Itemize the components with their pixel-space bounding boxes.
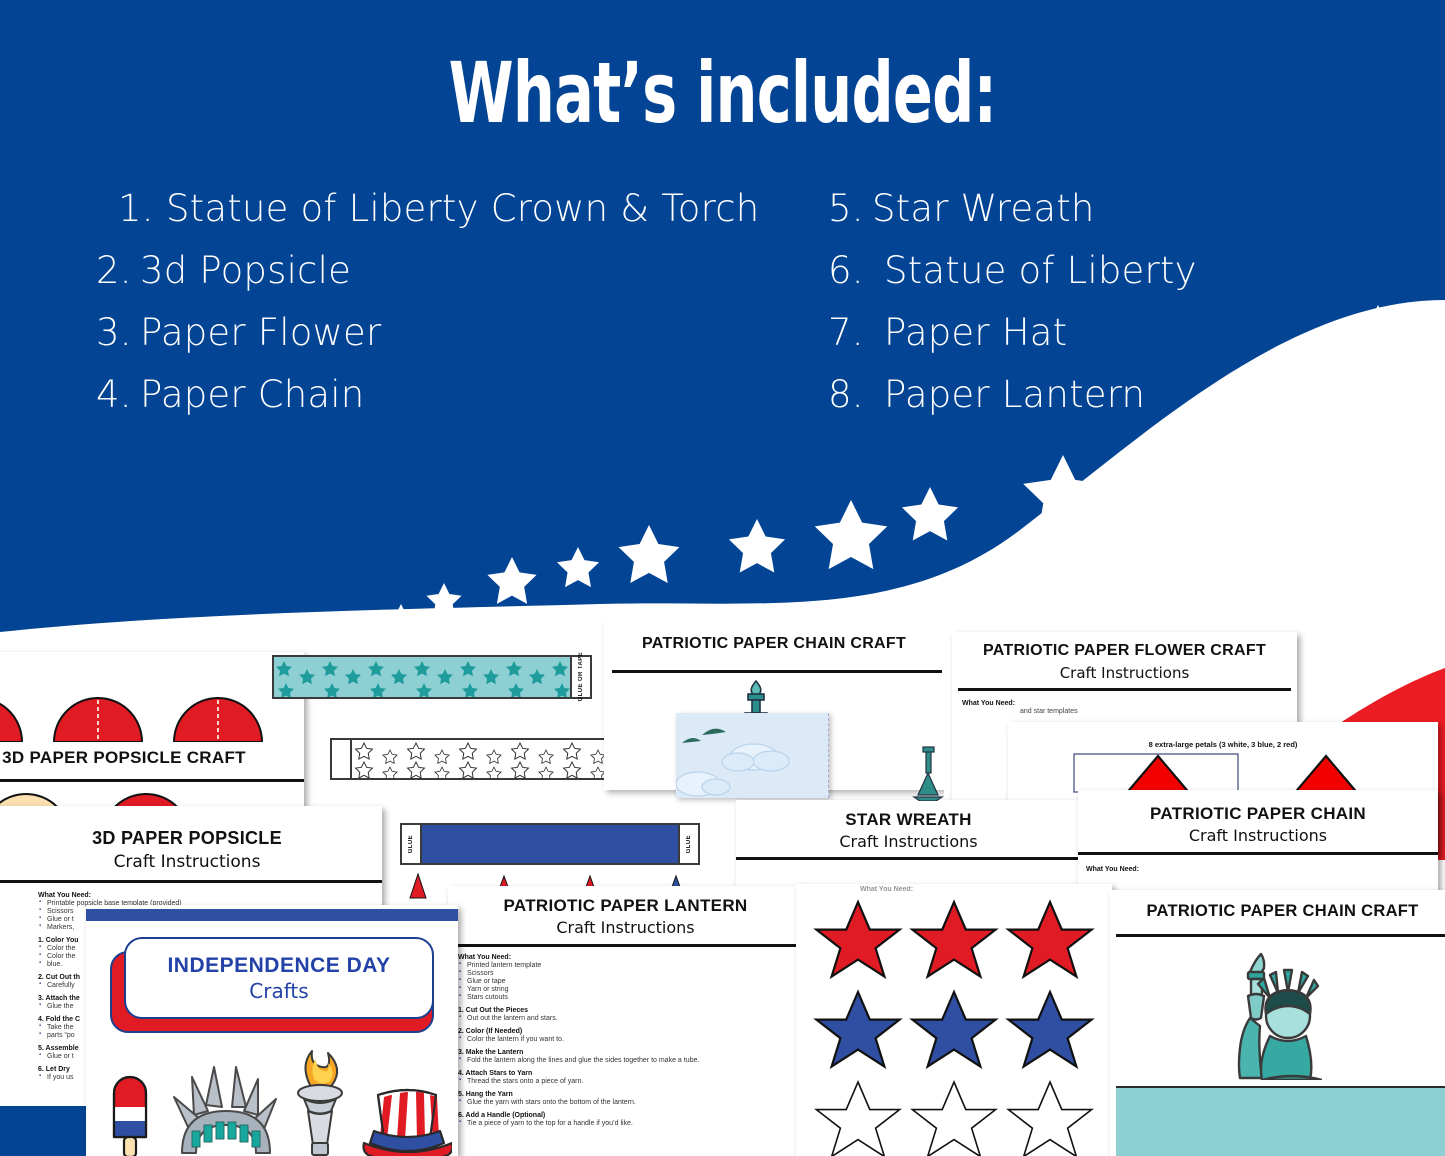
- liberty-crown-icon: [174, 1067, 276, 1153]
- list-item-label: Statue of Liberty: [884, 252, 1197, 289]
- paper-chain-teal-block: [1116, 1086, 1445, 1156]
- star-row-blue: [816, 992, 1091, 1067]
- doc-title: PATRIOTIC PAPER CHAIN CRAFT: [1110, 902, 1445, 921]
- list-item-label: 3d Popsicle: [140, 252, 351, 289]
- included-list-left: 1. Statue of Liberty Crown & Torch 2. 3d…: [96, 190, 796, 438]
- patriotic-hat-icon: [364, 1090, 453, 1156]
- doc-subtitle: Craft Instructions: [0, 852, 382, 872]
- step-bullet: Glue the yarn with stars onto the bottom…: [458, 1099, 798, 1106]
- step-bullet: Thread the stars onto a piece of yarn.: [458, 1078, 798, 1085]
- list-item-label: Paper Lantern: [884, 376, 1145, 413]
- doc-paper-chain-instructions[interactable]: PATRIOTIC PAPER CHAIN Craft Instructions…: [1078, 790, 1438, 905]
- poster-canvas: What’s included: 1. Statue of Liberty Cr…: [0, 0, 1445, 1156]
- doc-title: 3D PAPER POPSICLE: [0, 828, 382, 849]
- list-item-number: 5.: [828, 190, 872, 227]
- list-item-number: 8.: [828, 376, 884, 413]
- list-item-number: 2.: [96, 252, 140, 289]
- doc-cover-independence-day[interactable]: INDEPENDENCE DAY Crafts: [86, 905, 458, 1156]
- list-item: 1. Statue of Liberty Crown & Torch: [96, 190, 796, 227]
- torch-icon: [298, 1051, 342, 1155]
- doc-paper-chain-craft-bottom[interactable]: PATRIOTIC PAPER CHAIN CRAFT: [1110, 890, 1445, 1156]
- divider: [958, 688, 1291, 691]
- petal-caption: 8 extra-large petals (3 white, 3 blue, 2…: [1008, 740, 1438, 749]
- list-item: 8. Paper Lantern: [828, 376, 1328, 413]
- strip-glue-tab-right-label: GLUE: [686, 835, 692, 853]
- strip-glue-tab-left-label: GLUE: [408, 835, 414, 853]
- clouds-birds-graphic: [676, 713, 828, 798]
- statue-of-liberty-small-icon: [912, 745, 946, 801]
- list-item: 4. Paper Chain: [96, 376, 796, 413]
- divider: [452, 944, 797, 947]
- list-item-number: 7.: [828, 314, 884, 351]
- need-heading: What You Need:: [1086, 866, 1139, 873]
- cover-blue-bar: [86, 909, 458, 921]
- star-row-red: [816, 902, 1091, 977]
- need-item: Glue or tape: [458, 978, 798, 985]
- step-heading: 6. Add a Handle (Optional): [458, 1112, 798, 1119]
- cover-title: INDEPENDENCE DAY: [167, 954, 390, 978]
- doc-title: PATRIOTIC PAPER CHAIN CRAFT: [604, 635, 944, 653]
- step-heading: 4. Attach Stars to Yarn: [458, 1070, 798, 1077]
- list-item: 7. Paper Hat: [828, 314, 1328, 351]
- step-bullet: Color the lantern if you want to.: [458, 1036, 798, 1043]
- need-heading: What You Need:: [458, 954, 798, 961]
- step-bullet: Out out the lantern and stars.: [458, 1015, 798, 1022]
- popsicle-icon: [114, 1077, 146, 1156]
- list-item: 3. Paper Flower: [96, 314, 796, 351]
- step-heading: 1. Cut Out the Pieces: [458, 1007, 798, 1014]
- step-heading: 3. Make the Lantern: [458, 1049, 798, 1056]
- list-item-number: 1.: [96, 190, 166, 227]
- list-item: 2. 3d Popsicle: [96, 252, 796, 289]
- need-heading: What You Need:: [38, 892, 188, 899]
- doc-subtitle: Craft Instructions: [1078, 826, 1438, 845]
- list-item-label: Paper Flower: [140, 314, 381, 351]
- included-lists: 1. Statue of Liberty Crown & Torch 2. 3d…: [0, 190, 1445, 450]
- step-heading: 5. Hang the Yarn: [458, 1091, 798, 1098]
- divider: [1078, 852, 1438, 855]
- star-cutouts-graphic: [806, 892, 1106, 1156]
- list-item-label: Star Wreath: [872, 190, 1095, 227]
- list-item-number: 6.: [828, 252, 884, 289]
- doc-title: STAR WREATH: [736, 810, 1081, 830]
- divider: [736, 857, 1081, 860]
- statue-of-liberty-icon: [1226, 944, 1322, 1080]
- doc-title: PATRIOTIC PAPER CHAIN: [1078, 804, 1438, 824]
- page-title: What’s included:: [159, 44, 1286, 142]
- need-item: Stars cutouts: [458, 994, 798, 1001]
- step-bullet: Tie a piece of yarn to the top for a han…: [458, 1120, 798, 1127]
- need-heading: What You Need:: [962, 700, 1015, 707]
- cover-badge-white: INDEPENDENCE DAY Crafts: [124, 937, 434, 1019]
- list-item: 5. Star Wreath: [828, 190, 1328, 227]
- list-item-label: Paper Hat: [884, 314, 1067, 351]
- doc-title: PATRIOTIC PAPER FLOWER CRAFT: [952, 642, 1297, 660]
- divider: [1116, 934, 1445, 937]
- need-item: Scissors: [458, 970, 798, 977]
- step-heading: 2. Color (If Needed): [458, 1028, 798, 1035]
- cover-badge: INDEPENDENCE DAY Crafts: [110, 937, 430, 1032]
- included-list-right: 5. Star Wreath 6. Statue of Liberty 7. P…: [828, 190, 1328, 438]
- list-item: 6. Statue of Liberty: [828, 252, 1328, 289]
- doc-subtitle: Craft Instructions: [736, 832, 1081, 851]
- divider: [0, 880, 382, 883]
- blue-accent-bar-left: [0, 1106, 90, 1156]
- strip-glue-tab-left: GLUE: [402, 825, 422, 863]
- doc-paper-chain-craft-top[interactable]: PATRIOTIC PAPER CHAIN CRAFT: [244, 620, 944, 800]
- doc-subtitle: Craft Instructions: [952, 664, 1297, 682]
- strip-glue-tab-right: GLUE: [678, 825, 698, 863]
- need-item: Printed lantern template: [458, 962, 798, 969]
- star-row-white: [816, 1082, 1091, 1156]
- cover-subtitle: Crafts: [249, 979, 308, 1003]
- divider: [612, 670, 942, 673]
- step-bullet: Fold the lantern along the lines and glu…: [458, 1057, 798, 1064]
- strip-blue-body: [422, 825, 678, 863]
- need-item: and star templates: [1020, 708, 1078, 715]
- list-item-label: Paper Chain: [140, 376, 364, 413]
- strip-blue-lantern[interactable]: GLUE GLUE: [400, 823, 700, 865]
- list-item-number: 3.: [96, 314, 140, 351]
- list-item-label: Statue of Liberty Crown & Torch: [166, 190, 759, 227]
- doc-star-cutout-sheet[interactable]: What You Need:: [796, 884, 1112, 1156]
- need-list: Printed lantern template Scissors Glue o…: [458, 962, 798, 1001]
- list-item-number: 4.: [96, 376, 140, 413]
- doc-title: PATRIOTIC PAPER LANTERN: [448, 896, 803, 916]
- need-item: Yarn or string: [458, 986, 798, 993]
- sky-clouds-image[interactable]: [676, 713, 829, 798]
- cover-illustrations-graphic: [96, 1045, 452, 1156]
- doc-subtitle: Craft Instructions: [448, 918, 803, 937]
- doc-paper-lantern-instructions[interactable]: PATRIOTIC PAPER LANTERN Craft Instructio…: [448, 886, 803, 1156]
